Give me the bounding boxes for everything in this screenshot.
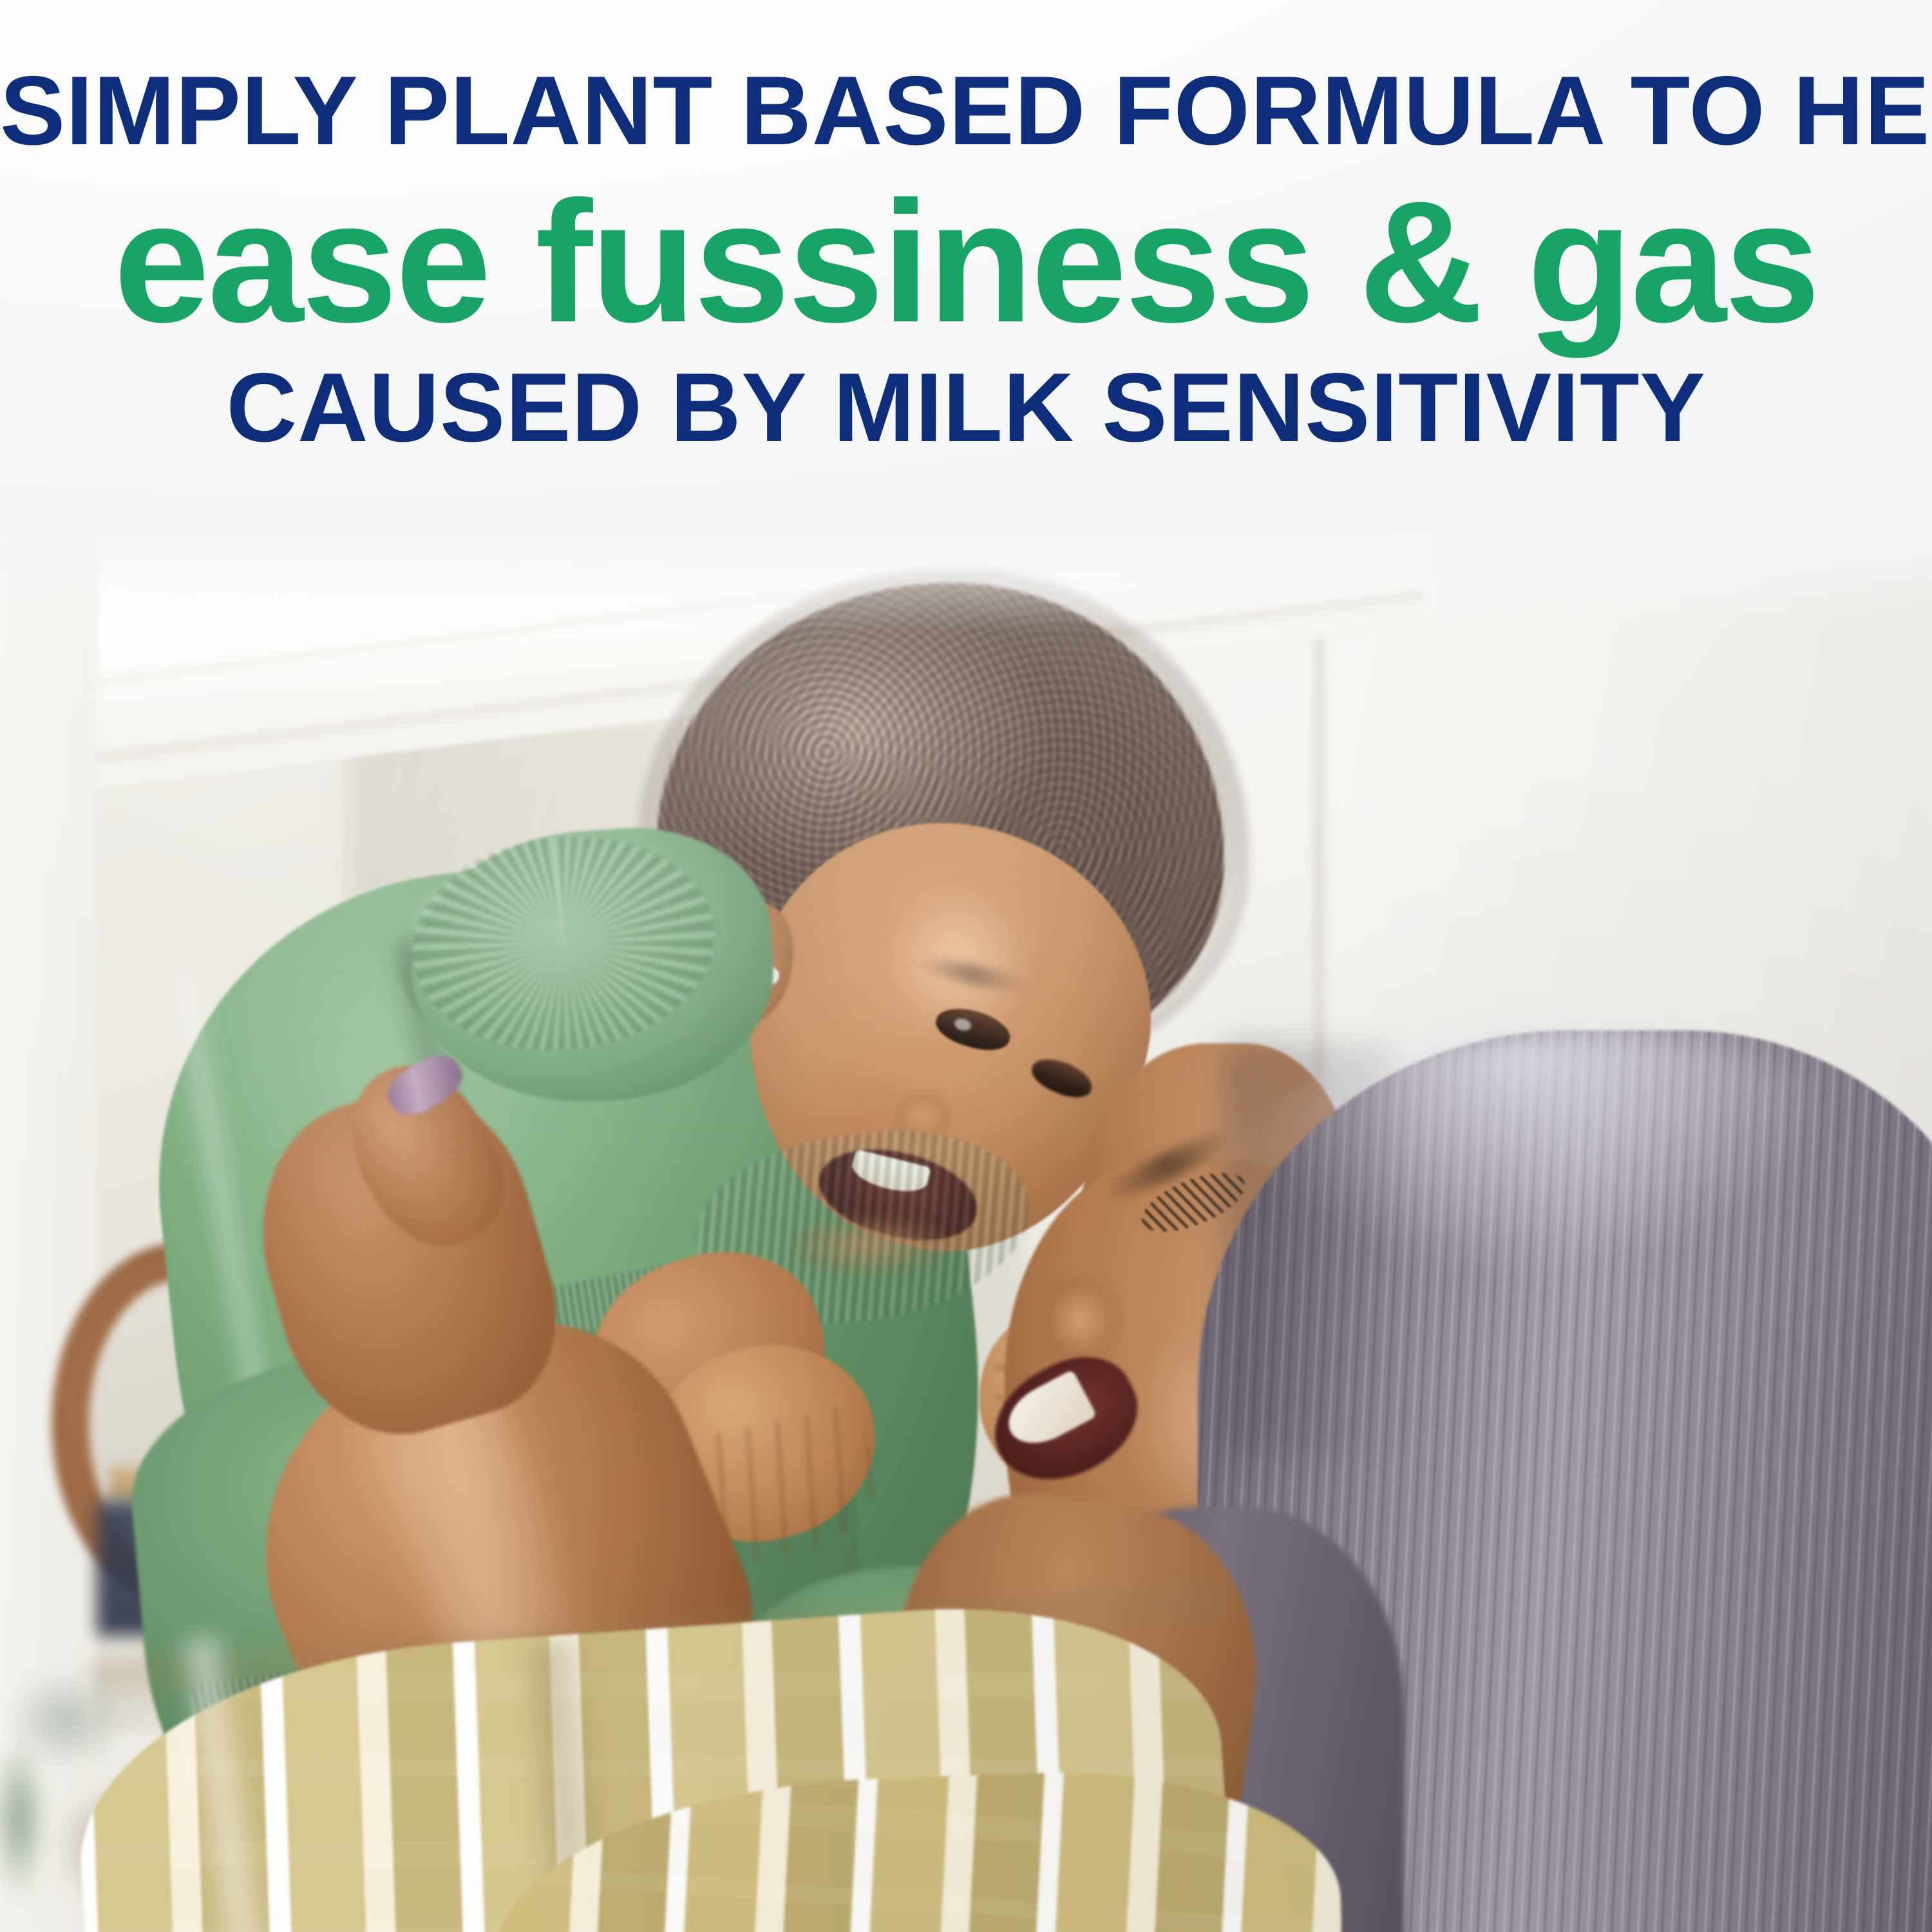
headline-block: SIMPLY PLANT BASED FORMULA TO HELP ease …	[0, 62, 1932, 457]
headline-line-1: SIMPLY PLANT BASED FORMULA TO HELP	[0, 62, 1932, 160]
headline-line-2: ease fussiness & gas	[0, 174, 1932, 350]
headline-line-3: CAUSED BY MILK SENSITIVITY	[0, 359, 1932, 457]
headline-panel: SIMPLY PLANT BASED FORMULA TO HELP ease …	[0, 0, 1932, 535]
ad-banner: SIMPLY PLANT BASED FORMULA TO HELP ease …	[0, 0, 1932, 1932]
mother-hair-part	[1224, 1043, 1391, 1455]
mother-hair-wisps	[1739, 1301, 1932, 1649]
